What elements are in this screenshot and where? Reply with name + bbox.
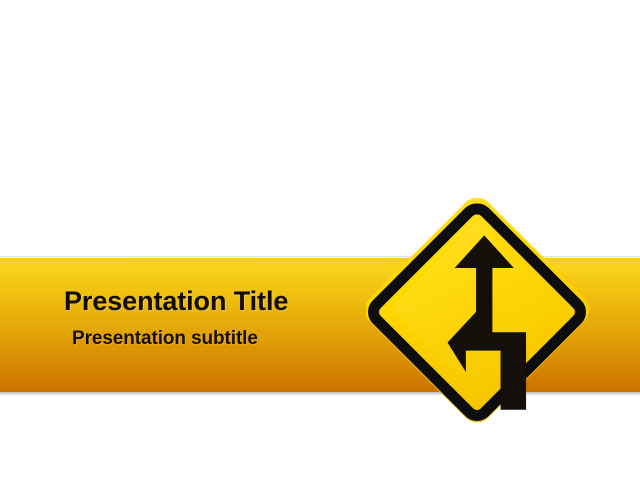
title-text-block: Presentation Title Presentation subtitle bbox=[0, 256, 360, 396]
page-subtitle: Presentation subtitle bbox=[72, 328, 258, 350]
page-title: Presentation Title bbox=[64, 286, 288, 317]
winding-road-warning-sign-icon bbox=[366, 190, 598, 430]
presentation-slide: Presentation Title Presentation subtitle bbox=[0, 0, 640, 480]
